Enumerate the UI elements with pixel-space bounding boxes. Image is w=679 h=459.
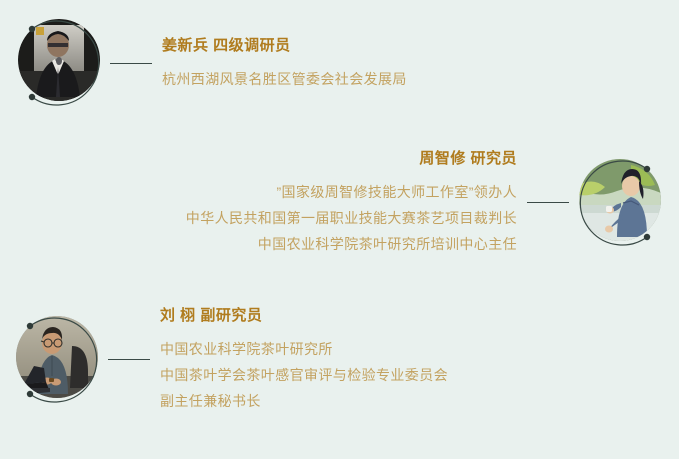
affiliation-line: 中国农业科学院茶叶研究所 [160, 336, 333, 362]
affiliation-line: 中国农业科学院茶叶研究所培训中心主任 [258, 231, 517, 257]
connector-line [110, 63, 152, 64]
person-name: 刘 栩 副研究员 [160, 305, 262, 327]
connector-line [527, 202, 569, 203]
affiliation-line: 杭州西湖风景名胜区管委会社会发展局 [162, 66, 407, 92]
profile-info: 周智修 研究员 ”国家级周智修技能大师工作室”领办人 中华人民共和国第一届职业技… [186, 148, 517, 257]
avatar-frame [569, 155, 665, 251]
decorative-arc-ring-icon [569, 155, 665, 251]
profile-entry-liu-xu: 刘 栩 副研究员 中国农业科学院茶叶研究所 中国茶叶学会茶叶感官审评与检验专业委… [12, 305, 448, 414]
speaker-profile-page: 姜新兵 四级调研员 杭州西湖风景名胜区管委会社会发展局 [0, 0, 679, 459]
person-name: 姜新兵 四级调研员 [162, 35, 291, 57]
avatar-frame [14, 15, 110, 111]
decorative-arc-ring-icon [14, 15, 110, 111]
profile-info: 刘 栩 副研究员 中国农业科学院茶叶研究所 中国茶叶学会茶叶感官审评与检验专业委… [160, 305, 448, 414]
affiliation-line: 中华人民共和国第一届职业技能大赛茶艺项目裁判长 [186, 205, 517, 231]
decorative-arc-ring-icon [12, 312, 108, 408]
affiliation-line: 副主任兼秘书长 [160, 388, 261, 414]
avatar-frame [12, 312, 108, 408]
profile-entry-zhou-zhixiu: 周智修 研究员 ”国家级周智修技能大师工作室”领办人 中华人民共和国第一届职业技… [186, 148, 665, 257]
affiliation-line: ”国家级周智修技能大师工作室”领办人 [276, 179, 517, 205]
profile-entry-jiang-xinbing: 姜新兵 四级调研员 杭州西湖风景名胜区管委会社会发展局 [14, 15, 407, 111]
affiliation-line: 中国茶叶学会茶叶感官审评与检验专业委员会 [160, 362, 448, 388]
profile-info: 姜新兵 四级调研员 杭州西湖风景名胜区管委会社会发展局 [162, 35, 407, 92]
connector-line [108, 359, 150, 360]
person-name: 周智修 研究员 [419, 148, 517, 170]
